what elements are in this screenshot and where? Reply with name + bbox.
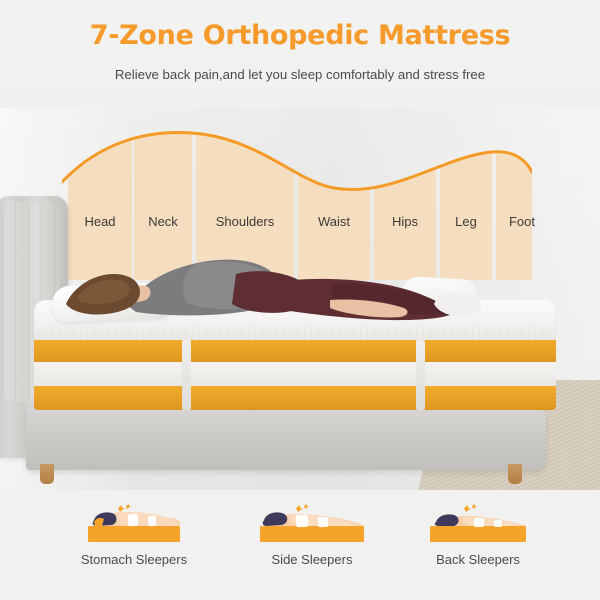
sleeper-label-stomach: Stomach Sleepers (34, 552, 234, 567)
infographic-page: 7-Zone Orthopedic Mattress Relieve back … (0, 0, 600, 600)
sleeper-types-section: Stomach Sleepers Side Sleepers (0, 490, 600, 600)
header: 7-Zone Orthopedic Mattress Relieve back … (0, 0, 600, 108)
person-hip (232, 271, 310, 313)
page-subtitle: Relieve back pain,and let you sleep comf… (0, 51, 600, 82)
stomach-sleeper-icon (68, 498, 200, 546)
sleeper-card-stomach: Stomach Sleepers (34, 498, 234, 567)
side-sleeper-icon (246, 498, 378, 546)
product-scene: Head Neck Shoulders Waist Hips Leg Foot (0, 108, 600, 490)
sleeper-label-back: Back Sleepers (378, 552, 578, 567)
sleeper-card-back: Back Sleepers (378, 498, 578, 567)
sleeping-person-photo (0, 108, 600, 490)
page-title: 7-Zone Orthopedic Mattress (0, 0, 600, 51)
back-sleeper-icon (412, 498, 544, 546)
